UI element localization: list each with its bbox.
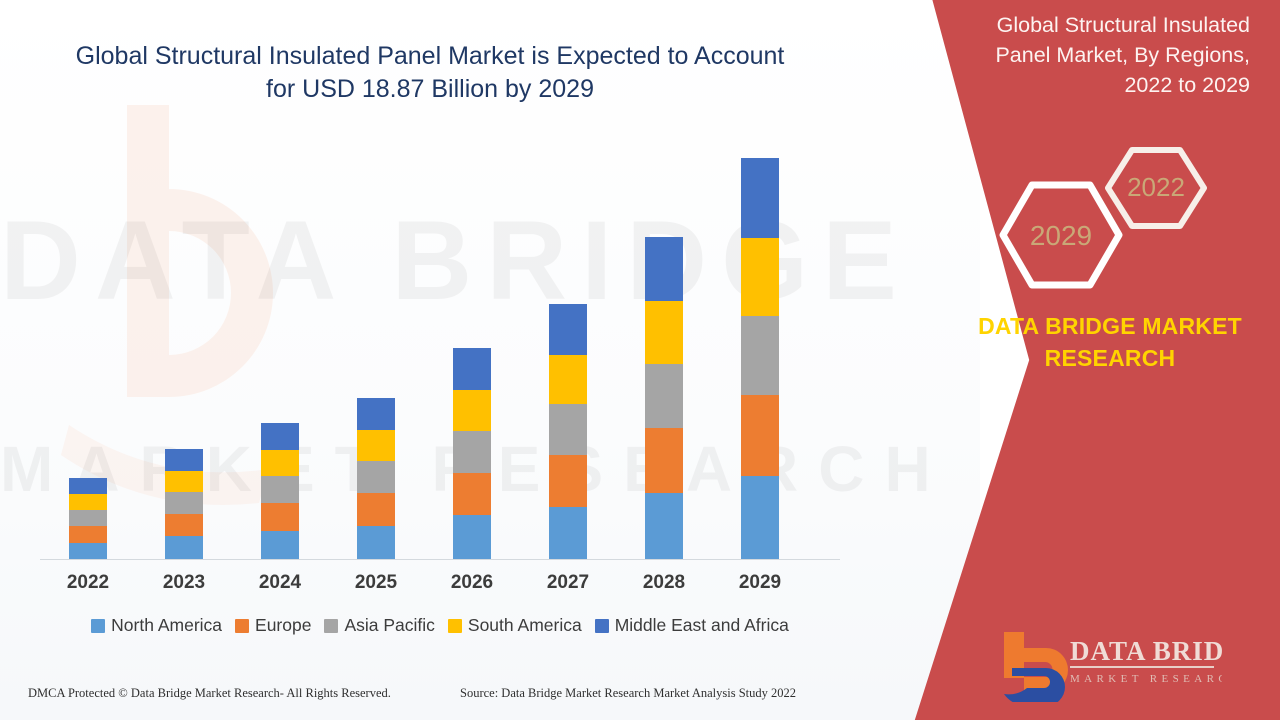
stacked-bar	[741, 158, 779, 560]
legend-swatch-icon	[91, 619, 105, 633]
bar-group-2026	[424, 150, 520, 560]
footer-copyright: DMCA Protected © Data Bridge Market Rese…	[28, 686, 391, 701]
bar-segment	[741, 158, 779, 238]
legend-label: Asia Pacific	[344, 615, 434, 636]
bar-segment	[741, 238, 779, 316]
brand-name: DATA BRIDGE MARKET RESEARCH	[940, 310, 1280, 374]
stacked-bar-chart	[40, 150, 840, 562]
x-axis-label-2023: 2023	[136, 572, 232, 594]
bar-segment	[453, 515, 491, 560]
bar-group-2023	[136, 150, 232, 560]
legend-label: North America	[111, 615, 222, 636]
bar-segment	[69, 543, 107, 560]
bar-segment	[165, 514, 203, 537]
legend-label: South America	[468, 615, 582, 636]
bar-segment	[261, 450, 299, 476]
page-title: Global Structural Insulated Panel Market…	[60, 40, 800, 106]
stacked-bar	[453, 348, 491, 560]
brand-line-2: RESEARCH	[940, 342, 1280, 374]
bar-segment	[645, 364, 683, 428]
bar-segment	[645, 428, 683, 493]
stacked-bar	[165, 449, 203, 560]
hexagon-start-year-label: 2022	[1127, 172, 1185, 202]
legend-swatch-icon	[448, 619, 462, 633]
bar-segment	[357, 461, 395, 493]
chart-legend: North AmericaEuropeAsia PacificSouth Ame…	[40, 615, 840, 636]
bar-segment	[261, 503, 299, 531]
bar-segment	[165, 471, 203, 492]
legend-item[interactable]: North America	[91, 615, 222, 636]
hexagon-end-year-label: 2029	[1030, 220, 1092, 251]
bar-segment	[261, 476, 299, 503]
x-axis-label-2024: 2024	[232, 572, 328, 594]
legend-swatch-icon	[235, 619, 249, 633]
x-axis-label-2029: 2029	[712, 572, 808, 594]
bar-segment	[261, 423, 299, 450]
stacked-bar	[645, 237, 683, 560]
x-axis-label-2022: 2022	[40, 572, 136, 594]
bar-segment	[357, 398, 395, 430]
bar-segment	[549, 404, 587, 455]
data-bridge-logo: DATA BRIDGE MARKET RESEARCH	[992, 624, 1222, 702]
legend-swatch-icon	[324, 619, 338, 633]
bar-segment	[165, 449, 203, 471]
x-axis-label-2026: 2026	[424, 572, 520, 594]
bar-segment	[69, 526, 107, 542]
footer-source: Source: Data Bridge Market Research Mark…	[460, 686, 796, 701]
bar-segment	[453, 390, 491, 431]
logo-divider	[1070, 666, 1214, 668]
bar-segment	[741, 476, 779, 560]
year-hexagons: 2022 2029	[980, 140, 1210, 300]
bar-segment	[357, 493, 395, 526]
infographic-page: DATA BRIDGE MARKET RESEARCH Global Struc…	[0, 0, 1280, 720]
bar-segment	[261, 531, 299, 560]
bar-segment	[741, 395, 779, 476]
bar-segment	[549, 455, 587, 507]
legend-item[interactable]: South America	[448, 615, 582, 636]
x-axis-label-2028: 2028	[616, 572, 712, 594]
legend-label: Europe	[255, 615, 311, 636]
bar-group-2025	[328, 150, 424, 560]
bar-segment	[165, 492, 203, 514]
stacked-bar	[69, 478, 107, 560]
legend-item[interactable]: Asia Pacific	[324, 615, 434, 636]
bar-group-2022	[40, 150, 136, 560]
bar-group-2024	[232, 150, 328, 560]
bar-segment	[645, 493, 683, 560]
x-axis-tick-labels: 20222023202420252026202720282029	[40, 572, 840, 600]
bar-segment	[741, 316, 779, 395]
legend-label: Middle East and Africa	[615, 615, 789, 636]
bar-group-2029	[712, 150, 808, 560]
chart-panel: DATA BRIDGE MARKET RESEARCH Global Struc…	[0, 0, 980, 720]
branding-panel-title: Global Structural Insulated Panel Market…	[944, 10, 1280, 100]
bar-segment	[645, 301, 683, 364]
bar-segment	[453, 348, 491, 390]
stacked-bar	[549, 304, 587, 560]
chart-plot-area	[40, 150, 840, 560]
x-axis-label-2027: 2027	[520, 572, 616, 594]
bar-segment	[453, 473, 491, 516]
brand-line-1: DATA BRIDGE MARKET	[940, 310, 1280, 342]
bar-segment	[357, 526, 395, 560]
x-axis-label-2025: 2025	[328, 572, 424, 594]
bar-segment	[549, 355, 587, 405]
bar-segment	[549, 304, 587, 355]
bar-segment	[165, 536, 203, 560]
bar-segment	[549, 507, 587, 560]
legend-item[interactable]: Europe	[235, 615, 311, 636]
x-axis-line	[40, 559, 840, 560]
legend-swatch-icon	[595, 619, 609, 633]
legend-item[interactable]: Middle East and Africa	[595, 615, 789, 636]
stacked-bar	[357, 398, 395, 560]
bar-segment	[69, 510, 107, 526]
bar-group-2027	[520, 150, 616, 560]
bar-segment	[357, 430, 395, 461]
logo-b-icon	[1004, 632, 1068, 702]
logo-tagline: MARKET RESEARCH	[1070, 673, 1222, 685]
logo-name: DATA BRIDGE	[1070, 636, 1222, 666]
bar-segment	[69, 478, 107, 494]
bar-segment	[69, 494, 107, 510]
bar-group-2028	[616, 150, 712, 560]
bar-segment	[645, 237, 683, 302]
bar-segment	[453, 431, 491, 473]
stacked-bar	[261, 423, 299, 560]
